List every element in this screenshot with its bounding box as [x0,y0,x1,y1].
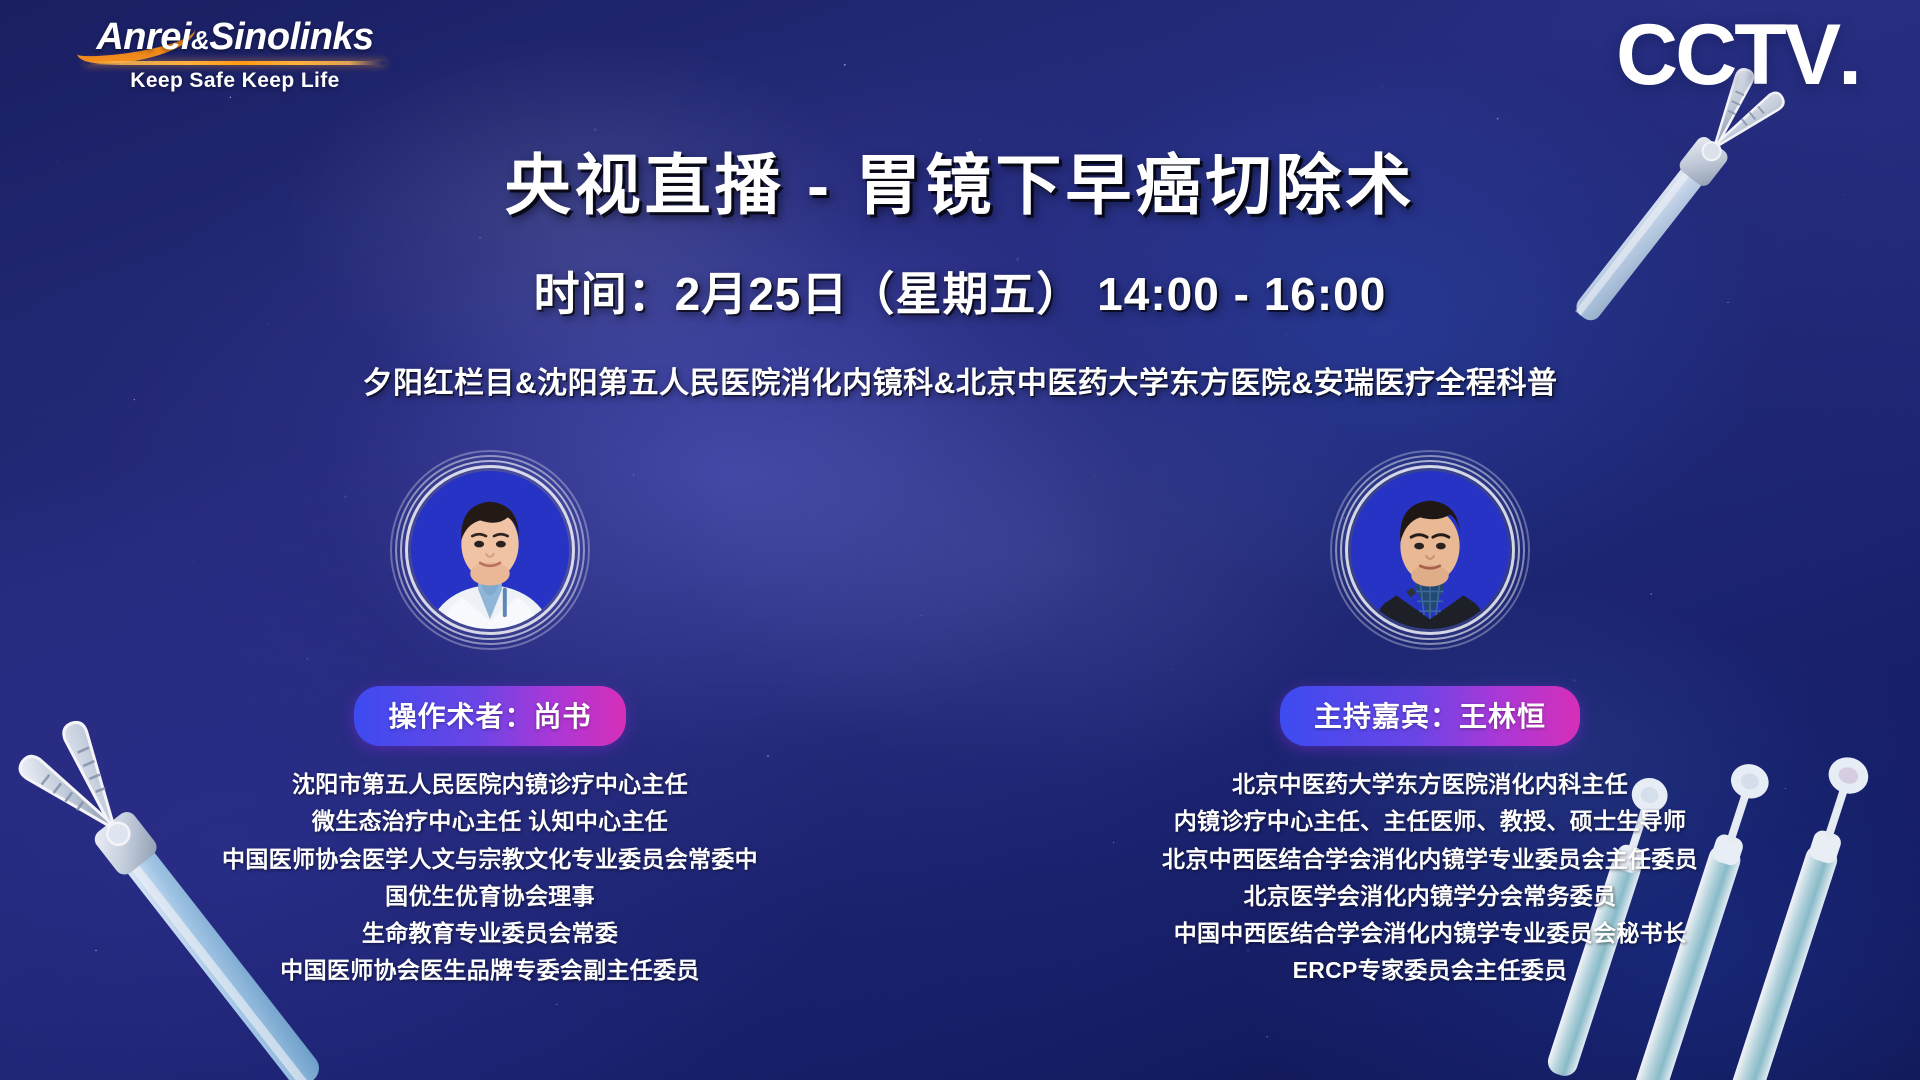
brand-tagline: Keep Safe Keep Life [70,69,400,93]
avatar [1330,450,1530,650]
brand-name-part2: Sinolinks [209,16,373,58]
brand-logo: Anrei&Sinolinks Keep Safe Keep Life [70,18,400,93]
status-badge: 主持嘉宾：王林恒 [1280,686,1580,746]
speakers-section: 操作术者：尚书 沈阳市第五人民医院内镜诊疗中心主任 微生态治疗中心主任 认知中心… [0,450,1920,990]
list-item: ERCP专家委员会主任委员 [1162,952,1698,989]
list-item: 沈阳市第五人民医院内镜诊疗中心主任 [222,766,758,803]
brand-name-part1: Anrei [96,16,191,58]
avatar-photo-host [1351,471,1509,629]
live-event-poster: Anrei&Sinolinks Keep Safe Keep Life CCTV… [0,0,1920,1080]
organizers-line: 夕阳红栏目&沈阳第五人民医院消化内镜科&北京中医药大学东方医院&安瑞医疗全程科普 [0,358,1920,402]
list-item: 中国医师协会医学人文与宗教文化专业委员会常委中 [222,841,758,878]
speaker-card-operator: 操作术者：尚书 沈阳市第五人民医院内镜诊疗中心主任 微生态治疗中心主任 认知中心… [230,450,750,990]
cctv-logo-text: CCTV [1616,7,1838,103]
avatar-photo-operator [411,471,569,629]
avatar [390,450,590,650]
cctv-logo-dot: . [1838,7,1862,103]
status-badge: 操作术者：尚书 [354,686,625,746]
credentials-list-host: 北京中医药大学东方医院消化内科主任 内镜诊疗中心主任、主任医师、教授、硕士生导师… [1162,766,1698,990]
speaker-card-host: 主持嘉宾：王林恒 北京中医药大学东方医院消化内科主任 内镜诊疗中心主任、主任医师… [1170,450,1690,990]
page-title: 央视直播 - 胃镜下早癌切除术 [0,132,1920,228]
brand-ampersand: & [191,25,209,55]
list-item: 北京中西医结合学会消化内镜学专业委员会主任委员 [1162,841,1698,878]
list-item: 中国医师协会医生品牌专委会副主任委员 [222,952,758,989]
brand-wordmark: Anrei&Sinolinks [70,18,400,58]
list-item: 中国中西医结合学会消化内镜学专业委员会秘书长 [1162,915,1698,952]
brand-underline-bar [85,61,385,65]
list-item: 微生态治疗中心主任 认知中心主任 [222,803,758,840]
credentials-list-operator: 沈阳市第五人民医院内镜诊疗中心主任 微生态治疗中心主任 认知中心主任 中国医师协… [222,766,758,990]
cctv-logo: CCTV. [1616,12,1862,98]
list-item: 北京医学会消化内镜学分会常务委员 [1162,878,1698,915]
list-item: 北京中医药大学东方医院消化内科主任 [1162,766,1698,803]
list-item: 国优生优育协会理事 [222,878,758,915]
list-item: 内镜诊疗中心主任、主任医师、教授、硕士生导师 [1162,803,1698,840]
list-item: 生命教育专业委员会常委 [222,915,758,952]
event-time: 时间：2月25日（星期五） 14:00 - 16:00 [0,258,1920,324]
